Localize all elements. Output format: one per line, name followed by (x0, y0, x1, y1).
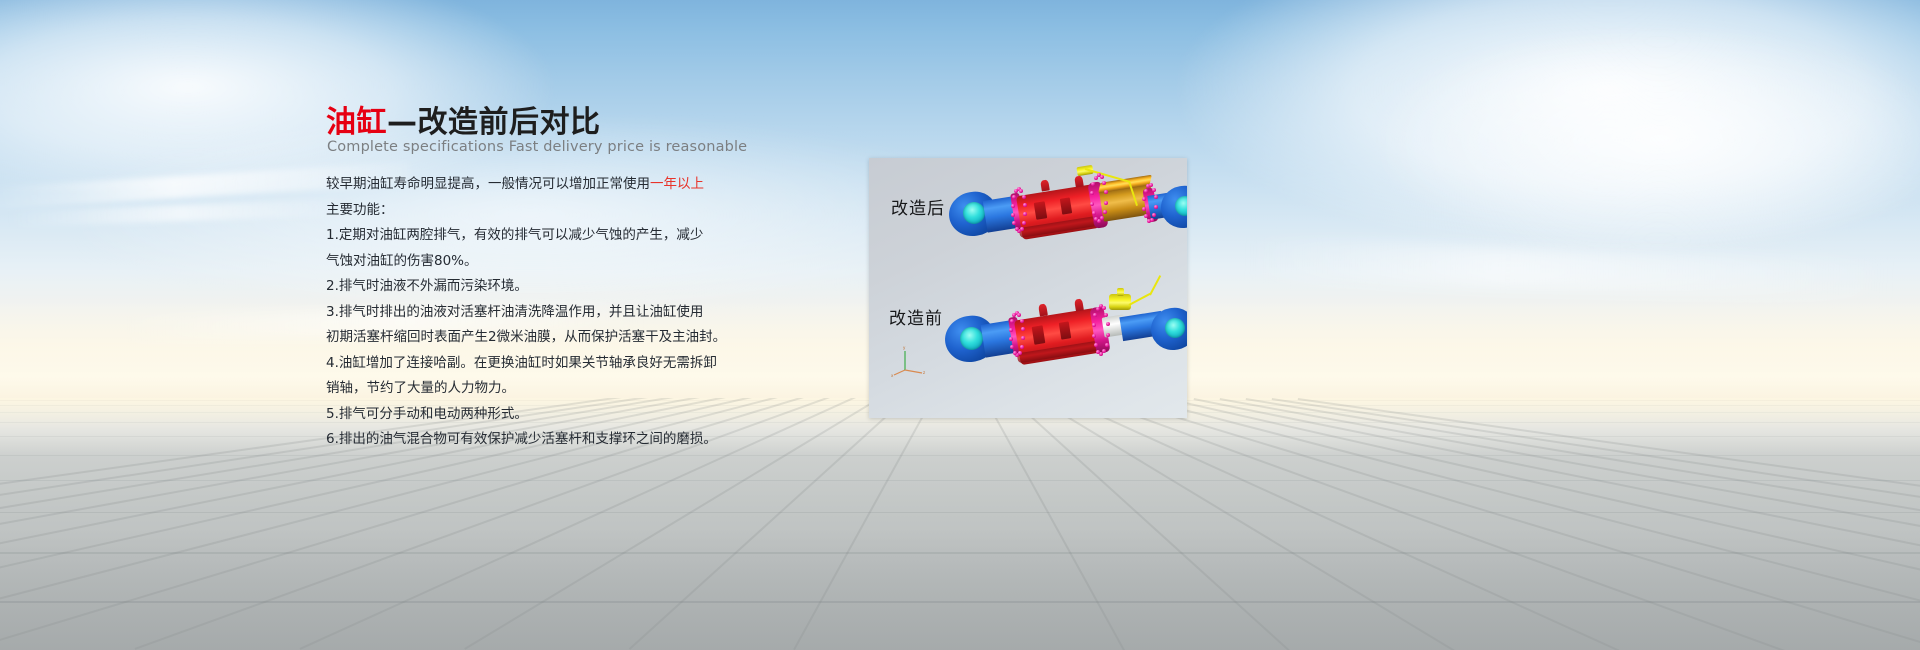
lifting-lug (1074, 175, 1084, 187)
flange-bolt (1106, 333, 1110, 337)
flange-bolt (1011, 204, 1015, 208)
svg-text:x: x (891, 373, 894, 378)
flange-bolt (1154, 205, 1158, 209)
front-eye-bore (1165, 318, 1185, 338)
flange-bolt (1022, 195, 1026, 199)
flange-bolt (1096, 350, 1100, 354)
feature-line-text: 2.排气时油液不外漏而污染环境。 (326, 278, 528, 294)
flange-bolt (1020, 319, 1024, 323)
comparison-image-panel: 改造后 改造前 x y z (869, 158, 1187, 418)
feature-line-emphasis: 一年以上 (650, 176, 704, 192)
flange-bolt (1092, 211, 1096, 215)
valve-stem (1117, 288, 1124, 296)
banner-content: 油缸—改造前后对比 Complete specifications Fast d… (0, 0, 1920, 650)
flange-bolt (1102, 306, 1106, 310)
page-title-highlight: 油缸 (326, 105, 387, 140)
rear-eye-bore (960, 327, 983, 350)
flange-bolt (1106, 322, 1110, 326)
flange-bolt (1009, 328, 1013, 332)
lifting-lug (1074, 298, 1084, 311)
flange-bolt (1152, 188, 1156, 192)
flange-bolt (1154, 195, 1158, 199)
flange-bolt (1103, 210, 1107, 214)
feature-line: 3.排气时排出的油液对活塞杆油清洗降温作用，并且让油缸使用 (326, 300, 746, 326)
flange-bolt (1015, 227, 1019, 231)
flange-bolt (1013, 351, 1017, 355)
page-title: 油缸—改造前后对比 (326, 106, 601, 139)
feature-line-text: 较早期油缸寿命明显提高，一般情况可以增加正常使用 (326, 176, 650, 192)
feature-line: 2.排气时油液不外漏而污染环境。 (326, 274, 746, 300)
svg-text:z: z (923, 370, 925, 375)
cylinder-before-assembly (945, 296, 1187, 410)
feature-line: 较早期油缸寿命明显提高，一般情况可以增加正常使用一年以上 (326, 172, 746, 198)
feature-line: 初期活塞杆缩回时表面产生2微米油膜，从而保护活塞干及主油封。 (326, 325, 746, 351)
lifting-lug (1040, 179, 1050, 191)
feature-line: 5.排气可分手动和电动两种形式。 (326, 402, 746, 428)
flange-bolt (1023, 203, 1027, 207)
flange-bolt (1104, 201, 1108, 205)
label-before-modification: 改造前 (889, 304, 943, 329)
page-title-rest: —改造前后对比 (387, 105, 601, 140)
feature-line: 销轴，节约了大量的人力物力。 (326, 376, 746, 402)
feature-line: 6.排出的油气混合物可有效保护减少活塞杆和支撑环之间的磨损。 (326, 427, 746, 453)
feature-line-text: 1.定期对油缸两腔排气，有效的排气可以减少气蚀的产生，减少 (326, 227, 703, 243)
svg-text:y: y (903, 345, 906, 350)
flange-bolt (1090, 202, 1094, 206)
flange-bolt (1147, 219, 1151, 223)
page-subtitle: Complete specifications Fast delivery pr… (327, 139, 747, 155)
feature-line-text: 4.油缸增加了连接哈副。在更换油缸时如果关节轴承良好无需拆卸 (326, 355, 717, 371)
feature-line-text: 气蚀对油缸的伤害80%。 (326, 253, 478, 269)
flange-bolt (1021, 327, 1025, 331)
feature-line: 主要功能： (326, 198, 746, 224)
feature-line: 1.定期对油缸两腔排气，有效的排气可以减少气蚀的产生，减少 (326, 223, 746, 249)
flange-bolt (1100, 175, 1104, 179)
feature-line-text: 主要功能： (326, 202, 394, 218)
feature-line-text: 5.排气可分手动和电动两种形式。 (326, 406, 528, 422)
flange-bolt (1144, 189, 1148, 193)
flange-bolt (1020, 345, 1024, 349)
feature-line-text: 销轴，节约了大量的人力物力。 (326, 380, 515, 396)
rear-eye-bore (963, 202, 985, 224)
bleed-tube (1085, 168, 1130, 183)
flange-bolt (1105, 343, 1109, 347)
flange-bolt (1022, 221, 1026, 225)
lifting-lug (1038, 303, 1048, 316)
label-after-modification: 改造后 (891, 194, 945, 219)
axis-gizmo-icon: x y z (891, 344, 931, 378)
feature-description: 较早期油缸寿命明显提高，一般情况可以增加正常使用一年以上主要功能：1.定期对油缸… (326, 172, 746, 453)
feature-line-text: 初期活塞杆缩回时表面产生2微米油膜，从而保护活塞干及主油封。 (326, 329, 726, 345)
feature-line-text: 3.排气时排出的油液对活塞杆油清洗降温作用，并且让油缸使用 (326, 304, 703, 320)
feature-line-text: 6.排出的油气混合物可有效保护减少活塞杆和支撑环之间的磨损。 (326, 431, 717, 447)
banner-stage: 油缸—改造前后对比 Complete specifications Fast d… (0, 0, 1920, 650)
feature-line: 4.油缸增加了连接哈副。在更换油缸时如果关节轴承良好无需拆卸 (326, 351, 746, 377)
feature-line: 气蚀对油缸的伤害80%。 (326, 249, 746, 275)
